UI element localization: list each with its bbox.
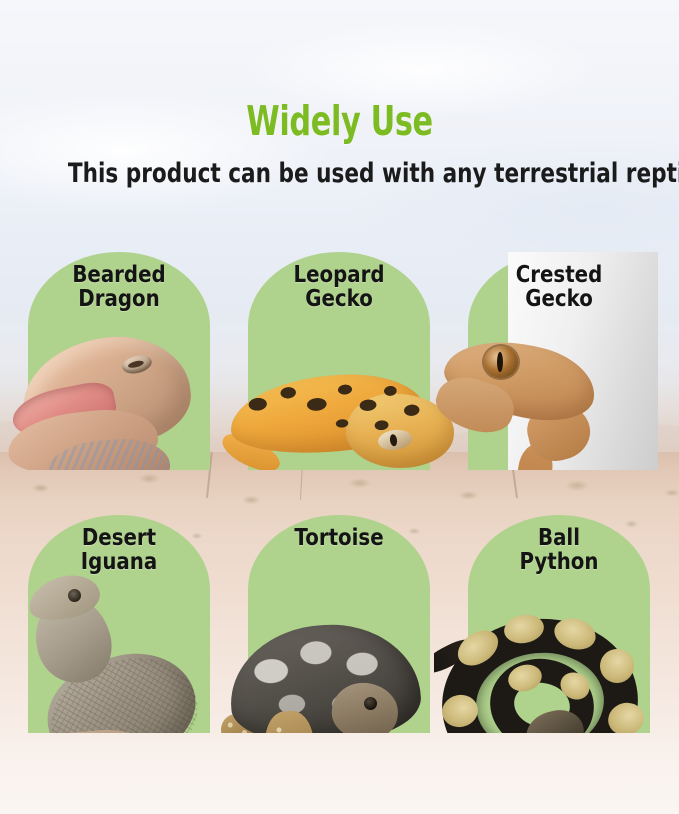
header-block: Widely Use This product can be used with… — [0, 100, 679, 189]
card-label-bearded-dragon: Bearded Dragon — [41, 264, 198, 312]
reptile-card-desert-iguana[interactable]: Desert Iguana — [28, 515, 210, 733]
card-label-desert-iguana: Desert Iguana — [41, 527, 198, 575]
reptile-card-ball-python[interactable]: Ball Python — [468, 515, 650, 733]
card-label-tortoise: Tortoise — [261, 527, 418, 551]
card-label-ball-python: Ball Python — [481, 527, 638, 575]
reptile-card-leopard-gecko[interactable]: Leopard Gecko — [248, 252, 430, 470]
reptile-card-bearded-dragon[interactable]: Bearded Dragon — [28, 252, 210, 470]
card-label-leopard-gecko: Leopard Gecko — [261, 264, 418, 312]
reptile-card-tortoise[interactable]: Tortoise — [248, 515, 430, 733]
page-title: Widely Use — [88, 100, 590, 143]
card-label-crested-gecko: Crested Gecko — [481, 264, 638, 312]
reptile-card-crested-gecko[interactable]: Crested Gecko — [468, 252, 650, 470]
page-subtitle: This product can be used with any terres… — [68, 159, 611, 189]
